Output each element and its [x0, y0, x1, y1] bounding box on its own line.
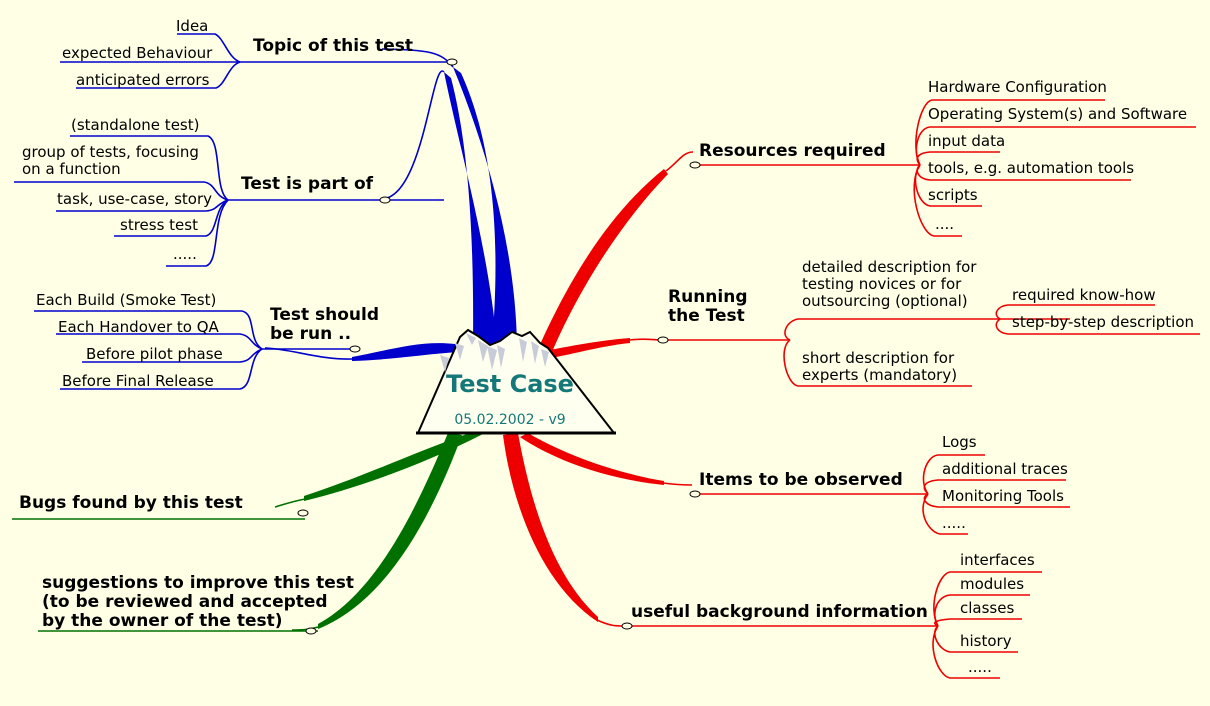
node-dot-topic-of-this-test[interactable]	[447, 59, 457, 65]
sublabel-resources-ellipsis[interactable]: ....	[935, 216, 954, 233]
sublabel-modules[interactable]: modules	[960, 576, 1024, 593]
sublabel-input-data[interactable]: input data	[928, 133, 1005, 150]
sublabel-monitoring-tools[interactable]: Monitoring Tools	[942, 488, 1064, 505]
branch-line-useful-background-information	[597, 620, 624, 626]
sublabel-classes[interactable]: classes	[960, 600, 1014, 617]
sublabel-test-is-part-of-ellipsis[interactable]: .....	[173, 246, 197, 263]
node-dot-bugs-found-by-this-test[interactable]	[298, 510, 308, 516]
branch-line-resources-required	[666, 152, 693, 171]
sublabel-logs[interactable]: Logs	[942, 434, 977, 451]
branch-label-suggestions-to-improve-this-test[interactable]: suggestions to improve this test (to be …	[42, 574, 354, 631]
sublabel-task-use-case-story[interactable]: task, use-case, story	[57, 191, 212, 208]
sublabel-step-by-step-description[interactable]: step-by-step description	[1012, 314, 1194, 331]
sublabel-additional-traces[interactable]: additional traces	[942, 461, 1068, 478]
center-subtitle: 05.02.2002 - v9	[380, 412, 640, 428]
branch-label-useful-background-information[interactable]: useful background information	[631, 603, 928, 622]
node-dot-useful-background-information[interactable]	[622, 623, 632, 629]
branch-line-running-the-test	[630, 339, 660, 340]
subwire-classes	[935, 619, 1022, 626]
mindmap-canvas: Test Case 05.02.2002 - v9 Topic of this …	[0, 0, 1210, 706]
branch-label-running-the-test[interactable]: Running the Test	[668, 288, 748, 326]
branch-label-test-is-part-of[interactable]: Test is part of	[241, 175, 373, 194]
branch-stroke-items-to-be-observed	[520, 433, 664, 485]
branch-line-items-to-be-observed	[663, 483, 692, 485]
sublabel-tools-automation[interactable]: tools, e.g. automation tools	[928, 160, 1134, 177]
sublabel-operating-system-and-software[interactable]: Operating System(s) and Software	[928, 106, 1187, 123]
sublabel-history[interactable]: history	[960, 633, 1012, 650]
branch-line-test-is-part-of	[382, 71, 444, 199]
sublabel-interfaces[interactable]: interfaces	[960, 552, 1035, 569]
sublabel-each-handover-to-qa[interactable]: Each Handover to QA	[58, 319, 219, 336]
sublabel-stress-test[interactable]: stress test	[120, 217, 198, 234]
sublabel-group-of-tests[interactable]: group of tests, focusing on a function	[22, 144, 199, 178]
sublabel-each-build-smoke-test[interactable]: Each Build (Smoke Test)	[36, 292, 216, 309]
branch-label-topic-of-this-test[interactable]: Topic of this test	[253, 37, 413, 56]
sublabel-hardware-configuration[interactable]: Hardware Configuration	[928, 79, 1107, 96]
branch-line-bugs-found-by-this-test	[275, 499, 305, 507]
branch-label-resources-required[interactable]: Resources required	[699, 142, 886, 161]
branch-label-test-should-be-run[interactable]: Test should be run ..	[270, 306, 379, 344]
sublabel-detailed-description[interactable]: detailed description for testing novices…	[802, 259, 976, 309]
node-dot-running-the-test[interactable]	[658, 337, 668, 343]
branch-label-items-to-be-observed[interactable]: Items to be observed	[699, 471, 903, 490]
sublabel-background-ellipsis[interactable]: .....	[968, 659, 992, 676]
sublabel-expected-behaviour[interactable]: expected Behaviour	[62, 45, 212, 62]
node-dot-test-should-be-run[interactable]	[350, 346, 360, 352]
node-dot-items-to-be-observed[interactable]	[690, 491, 700, 497]
sublabel-before-pilot-phase[interactable]: Before pilot phase	[86, 346, 223, 363]
sublabel-required-know-how[interactable]: required know-how	[1012, 287, 1156, 304]
branch-label-bugs-found-by-this-test[interactable]: Bugs found by this test	[19, 494, 243, 513]
sublabel-before-final-release[interactable]: Before Final Release	[62, 373, 214, 390]
sublabel-standalone-test[interactable]: (standalone test)	[71, 117, 199, 134]
node-dot-test-is-part-of[interactable]	[380, 197, 390, 203]
branch-stroke-resources-required	[538, 169, 668, 352]
sublabel-items-ellipsis[interactable]: .....	[942, 515, 966, 532]
node-dot-resources-required[interactable]	[690, 162, 700, 168]
sublabel-scripts[interactable]: scripts	[928, 187, 978, 204]
center-title: Test Case	[380, 370, 640, 398]
sublabel-short-description[interactable]: short description for experts (mandatory…	[802, 350, 957, 384]
sublabel-idea[interactable]: Idea	[176, 18, 208, 35]
sublabel-anticipated-errors[interactable]: anticipated errors	[76, 72, 209, 89]
branch-stroke-test-is-part-of	[444, 72, 497, 347]
